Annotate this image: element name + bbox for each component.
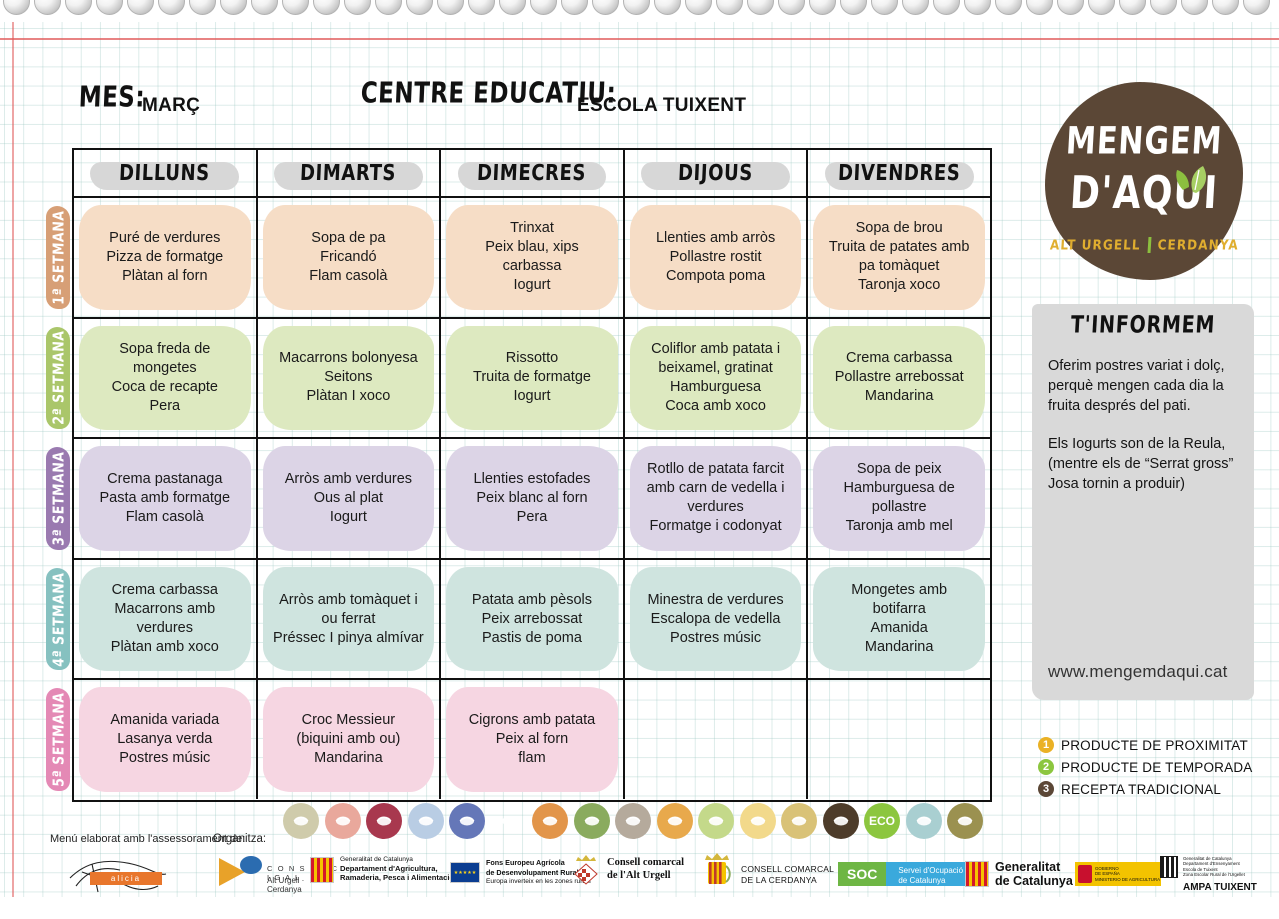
consell-comarcal-cerdanya-logo: CONSELL COMARCAL DE LA CERDANYA xyxy=(700,852,834,897)
menu-cell-text: Sopa de pa Fricandó Flam casolà xyxy=(309,229,387,286)
spiral-ring xyxy=(992,0,1023,22)
alicia-wordmark: alicia xyxy=(90,872,162,885)
menu-cell-text: Coliflor amb patata i beixamel, gratinat… xyxy=(651,340,780,416)
legend-badge-3: 3 xyxy=(1038,781,1054,797)
soc-subtitle: Servei d'Ocupació de Catalunya xyxy=(886,862,971,886)
menu-cell: Minestra de verdures Escalopa de vedella… xyxy=(625,560,809,679)
menu-cell-text: Llenties amb arròs Pollastre rostit Comp… xyxy=(656,229,775,286)
spiral-binding xyxy=(0,0,1279,22)
column-header-label: DIVENDRES xyxy=(837,160,961,186)
spiral-ring xyxy=(806,0,837,22)
menu-cell-text: Crema pastanaga Pasta amb formatge Flam … xyxy=(100,470,231,527)
column-header-label: DIMECRES xyxy=(477,160,587,186)
menu-cell: Cigrons amb patata Peix al forn flam xyxy=(441,680,625,799)
menu-cell-text: Sopa freda de mongetes Coca de recapte P… xyxy=(112,340,218,416)
table-row: 5ª SETMANAAmanida variada Lasanya verda … xyxy=(74,680,990,799)
spiral-ring xyxy=(279,0,310,22)
eu-line-1: Fons Europeu Agrícola xyxy=(486,858,565,867)
menu-cell-text: Puré de verdures Pizza de formatge Plàta… xyxy=(106,229,223,286)
spiral-ring xyxy=(1085,0,1116,22)
legend-label: PRODUCTE DE TEMPORADA xyxy=(1061,760,1252,775)
legend-row: 3RECEPTA TRADICIONAL xyxy=(1038,781,1268,797)
gencat-agricultura-logo: Generalitat de Catalunya Departament d'A… xyxy=(310,856,454,884)
menu-cell-text: Crema carbassa Macarrons amb verdures Pl… xyxy=(111,581,219,657)
week-tab-label: 5ª SETMANA xyxy=(49,692,67,787)
menu-cell: Crema carbassa Macarrons amb verdures Pl… xyxy=(74,560,258,679)
spiral-ring xyxy=(1209,0,1240,22)
week-tab-label: 4ª SETMANA xyxy=(49,571,67,666)
gencat-agri-line-2: Departament d'Agricultura, xyxy=(340,864,438,873)
menu-cell: Patata amb pèsols Peix arrebossat Pastis… xyxy=(441,560,625,679)
table-row: 2ª SETMANASopa freda de mongetes Coca de… xyxy=(74,319,990,440)
menu-cell: Sopa freda de mongetes Coca de recapte P… xyxy=(74,319,258,438)
eu-stars-icon: ★★★★★ xyxy=(451,863,479,882)
spiral-ring xyxy=(1116,0,1147,22)
ampa-title: AMPA TUIXENT xyxy=(1183,882,1257,893)
logo-line-1: MENGEM xyxy=(1065,120,1224,164)
soc-wordmark: SOC xyxy=(838,862,886,886)
column-header-label: DIJOUS xyxy=(678,160,754,186)
ampa-tuixent-logo: Generalitat de Catalunya Departament d'E… xyxy=(1160,856,1257,893)
gencat-line-1: Generalitat xyxy=(995,860,1073,874)
spiral-ring xyxy=(1023,0,1054,22)
spiral-ring xyxy=(310,0,341,22)
table-body: 1ª SETMANAPuré de verdures Pizza de form… xyxy=(74,198,990,799)
menu-cell-text: Rotllo de patata farcit amb carn de vede… xyxy=(647,460,785,536)
margin-line-top xyxy=(0,38,1279,40)
senyera-icon xyxy=(310,857,334,883)
legend-row: 2PRODUCTE DE TEMPORADA xyxy=(1038,759,1268,775)
cerdanya-crest-icon xyxy=(700,852,734,897)
gencat-line-2: de Catalunya xyxy=(995,874,1073,888)
menu-cell: Puré de verdures Pizza de formatge Plàta… xyxy=(74,198,258,317)
column-header-label: DILLUNS xyxy=(119,160,211,186)
spiral-ring xyxy=(93,0,124,22)
gobierno-espana-logo: GOBIERNO DE ESPAÑA MINISTERIO DE AGRICUL… xyxy=(1075,862,1161,886)
menu-cell: Llenties amb arròs Pollastre rostit Comp… xyxy=(625,198,809,317)
spiral-ring xyxy=(682,0,713,22)
menu-cell-text: Sopa de peix Hamburguesa de pollastre Ta… xyxy=(844,460,955,536)
cc-cerdanya-line-1: CONSELL COMARCAL xyxy=(741,864,834,875)
leaf-icon xyxy=(1167,160,1213,205)
spiral-ring xyxy=(868,0,899,22)
week-tab-label: 3ª SETMANA xyxy=(49,451,67,546)
spiral-ring xyxy=(558,0,589,22)
spiral-ring xyxy=(186,0,217,22)
gencat-agri-line-3: Ramaderia, Pesca i Alimentació xyxy=(340,873,454,882)
logo-subtitle: ALT URGELL CERDANYA xyxy=(1049,237,1239,253)
legend-badge-2: 2 xyxy=(1038,759,1054,775)
cc-cerdanya-text: CONSELL COMARCAL DE LA CERDANYA xyxy=(741,864,834,886)
column-header-dimarts: DIMARTS xyxy=(258,150,442,196)
column-header-dimecres: DIMECRES xyxy=(441,150,625,196)
spiral-ring xyxy=(496,0,527,22)
menu-cell-text: Minestra de verdures Escalopa de vedella… xyxy=(647,591,783,648)
table-row: 4ª SETMANACrema carbassa Macarrons amb v… xyxy=(74,560,990,681)
logo-subtitle-right: CERDANYA xyxy=(1157,237,1239,253)
spiral-ring xyxy=(713,0,744,22)
spiral-ring xyxy=(589,0,620,22)
spiral-ring xyxy=(1178,0,1209,22)
info-paragraph: Els Iogurts son de la Reula, (mentre els… xyxy=(1048,434,1240,494)
spiral-ring xyxy=(403,0,434,22)
week-tab-label: 1ª SETMANA xyxy=(49,210,67,305)
table-header-row: DILLUNSDIMARTSDIMECRESDIJOUSDIVENDRES xyxy=(74,150,990,198)
menu-cell-text: Patata amb pèsols Peix arrebossat Pastis… xyxy=(472,591,592,648)
spiral-ring xyxy=(217,0,248,22)
eu-flag-icon: ★★★★★ xyxy=(450,862,480,883)
info-panel-title: T'INFORMEM xyxy=(1031,311,1255,339)
ampa-line-4: Zona Escolar Rural de l'Urgellet xyxy=(1183,872,1257,877)
menu-cell: Arròs amb verdures Ous al plat Iogurt xyxy=(258,439,442,558)
spiral-ring xyxy=(527,0,558,22)
menu-cell-text: Macarrons bolonyesa Seitons Plàtan I xoc… xyxy=(279,349,418,406)
menu-cell: Llenties estofades Peix blanc al forn Pe… xyxy=(441,439,625,558)
info-paragraph: Oferim postres variat i dolç, perquè men… xyxy=(1048,356,1240,416)
ampa-bars-icon xyxy=(1160,856,1178,878)
alt-urgell-crest-icon xyxy=(572,852,600,886)
column-header-dilluns: DILLUNS xyxy=(74,150,258,196)
spiral-ring xyxy=(837,0,868,22)
spiral-ring xyxy=(0,0,31,22)
week-tab-3: 3ª SETMANA xyxy=(46,447,70,550)
month-label: MES: xyxy=(78,82,146,115)
spiral-ring xyxy=(930,0,961,22)
logo-subtitle-left: ALT URGELL xyxy=(1049,237,1141,253)
menu-cell: Sopa de brou Truita de patates amb pa to… xyxy=(808,198,990,317)
column-header-label: DIMARTS xyxy=(300,160,397,186)
spiral-ring xyxy=(775,0,806,22)
column-header-divendres: DIVENDRES xyxy=(808,150,990,196)
spiral-ring xyxy=(465,0,496,22)
menu-table: DILLUNSDIMARTSDIMECRESDIJOUSDIVENDRES 1ª… xyxy=(72,148,992,802)
legend-badge-1: 1 xyxy=(1038,737,1054,753)
spiral-ring xyxy=(744,0,775,22)
esp-line-3: MINISTERIO DE AGRICULTURA xyxy=(1095,877,1160,882)
document-header: MES: MARÇ CENTRE EDUCATIU: ESCOLA TUIXEN… xyxy=(60,74,1010,122)
spiral-ring xyxy=(1054,0,1085,22)
consell-comarcal-alt-urgell-logo: Consell comarcal de l'Alt Urgell xyxy=(572,852,684,886)
menu-cell-text: Trinxat Peix blau, xips carbassa Iogurt xyxy=(485,219,579,295)
menu-cell: Trinxat Peix blau, xips carbassa Iogurt xyxy=(441,198,625,317)
menu-cell: Croc Messieur (biquini amb ou) Mandarina xyxy=(258,680,442,799)
menu-cell: Crema carbassa Pollastre arrebossat Mand… xyxy=(808,319,990,438)
spiral-ring xyxy=(1240,0,1271,22)
menu-cell-text: Mongetes amb botifarra Amanida Mandarina xyxy=(851,581,947,657)
gencat-agricultura-text: Generalitat de Catalunya Departament d'A… xyxy=(340,856,454,884)
margin-line-left xyxy=(12,22,14,897)
legend-label: PRODUCTE DE PROXIMITAT xyxy=(1061,738,1248,753)
week-tab-label: 2ª SETMANA xyxy=(49,330,67,425)
menu-cell: Arròs amb tomàquet i ou ferrat Préssec I… xyxy=(258,560,442,679)
spiral-ring xyxy=(124,0,155,22)
table-row: 3ª SETMANACrema pastanaga Pasta amb form… xyxy=(74,439,990,560)
espana-flag-icon: GOBIERNO DE ESPAÑA MINISTERIO DE AGRICUL… xyxy=(1075,862,1161,886)
spiral-ring xyxy=(434,0,465,22)
spiral-ring xyxy=(341,0,372,22)
spiral-ring xyxy=(1147,0,1178,22)
soc-line-2: de Catalunya xyxy=(898,876,963,886)
spiral-ring xyxy=(372,0,403,22)
website-url[interactable]: www.mengemdaqui.cat xyxy=(1048,662,1228,682)
eu-line-2: de Desenvolupament Rural: xyxy=(486,868,581,877)
spiral-ring xyxy=(620,0,651,22)
notebook-page: MES: MARÇ CENTRE EDUCATIU: ESCOLA TUIXEN… xyxy=(0,22,1279,897)
alicia-logo: alicia xyxy=(62,852,192,900)
table-row: 1ª SETMANAPuré de verdures Pizza de form… xyxy=(74,198,990,319)
espana-text: GOBIERNO DE ESPAÑA MINISTERIO DE AGRICUL… xyxy=(1095,866,1160,882)
menu-cell-text: Crema carbassa Pollastre arrebossat Mand… xyxy=(835,349,964,406)
menu-cell: Sopa de peix Hamburguesa de pollastre Ta… xyxy=(808,439,990,558)
generalitat-logo: Generalitat de Catalunya xyxy=(965,860,1073,888)
eu-feader-logo: ★★★★★ Fons Europeu Agrícola de Desenvolu… xyxy=(450,859,591,887)
menu-cell: Coliflor amb patata i beixamel, gratinat… xyxy=(625,319,809,438)
spiral-ring xyxy=(62,0,93,22)
menu-cell: Sopa de pa Fricandó Flam casolà xyxy=(258,198,442,317)
column-header-dijous: DIJOUS xyxy=(625,150,809,196)
menu-cell-text: Sopa de brou Truita de patates amb pa to… xyxy=(829,219,970,295)
menu-cell: Amanida variada Lasanya verda Postres mú… xyxy=(74,680,258,799)
cc-urgell-line-1: Consell comarcal xyxy=(607,856,684,869)
week-tab-4: 4ª SETMANA xyxy=(46,568,70,671)
spiral-ring xyxy=(31,0,62,22)
menu-cell: Rotllo de patata farcit amb carn de vede… xyxy=(625,439,809,558)
menu-cell: Crema pastanaga Pasta amb formatge Flam … xyxy=(74,439,258,558)
menu-cell: Mongetes amb botifarra Amanida Mandarina xyxy=(808,560,990,679)
logo-subtitle-divider xyxy=(1147,237,1151,253)
soc-line-1: Servei d'Ocupació xyxy=(898,866,963,876)
spiral-ring xyxy=(899,0,930,22)
menu-cell xyxy=(808,680,990,799)
week-tab-1: 1ª SETMANA xyxy=(46,206,70,309)
spiral-ring xyxy=(248,0,279,22)
info-panel-body: Oferim postres variat i dolç, perquè men… xyxy=(1048,356,1240,494)
legend-row: 1PRODUCTE DE PROXIMITAT xyxy=(1038,737,1268,753)
menu-cell-text: Rissotto Truita de formatge Iogurt xyxy=(473,349,591,406)
menu-cell-text: Croc Messieur (biquini amb ou) Mandarina xyxy=(296,711,400,768)
menu-cell-text: Amanida variada Lasanya verda Postres mú… xyxy=(110,711,219,768)
week-tab-2: 2ª SETMANA xyxy=(46,327,70,430)
mengem-daqui-logo: MENGEM D'AQUI ALT URGELL CERDANYA xyxy=(1045,82,1243,280)
espana-shield-icon xyxy=(1078,865,1092,883)
menu-cell xyxy=(625,680,809,799)
week-tab-5: 5ª SETMANA xyxy=(46,688,70,791)
cc-urgell-line-2: de l'Alt Urgell xyxy=(607,869,684,882)
spiral-ring xyxy=(651,0,682,22)
school-value: ESCOLA TUIXENT xyxy=(577,95,746,117)
spiral-ring xyxy=(961,0,992,22)
spiral-ring xyxy=(155,0,186,22)
senyera-icon-2 xyxy=(965,861,989,887)
menu-cell-text: Llenties estofades Peix blanc al forn Pe… xyxy=(474,470,591,527)
menu-cell-text: Arròs amb tomàquet i ou ferrat Préssec I… xyxy=(273,591,424,648)
cc-cerdanya-line-2: DE LA CERDANYA xyxy=(741,875,834,886)
month-value: MARÇ xyxy=(142,95,200,117)
legend: 1PRODUCTE DE PROXIMITAT2PRODUCTE DE TEMP… xyxy=(1038,737,1268,803)
generalitat-text: Generalitat de Catalunya xyxy=(995,860,1073,888)
cc-alt-urgell-text: Consell comarcal de l'Alt Urgell xyxy=(607,856,684,882)
info-panel: T'INFORMEM Oferim postres variat i dolç,… xyxy=(1032,304,1254,700)
menu-cell: Rissotto Truita de formatge Iogurt xyxy=(441,319,625,438)
menu-cell: Macarrons bolonyesa Seitons Plàtan I xoc… xyxy=(258,319,442,438)
legend-label: RECEPTA TRADICIONAL xyxy=(1061,782,1221,797)
footer-organitza-label: Organitza: xyxy=(213,833,266,845)
menu-cell-text: Arròs amb verdures Ous al plat Iogurt xyxy=(285,470,412,527)
soc-logo: SOC Servei d'Ocupació de Catalunya xyxy=(838,862,971,886)
menu-cell-text: Cigrons amb patata Peix al forn flam xyxy=(469,711,596,768)
